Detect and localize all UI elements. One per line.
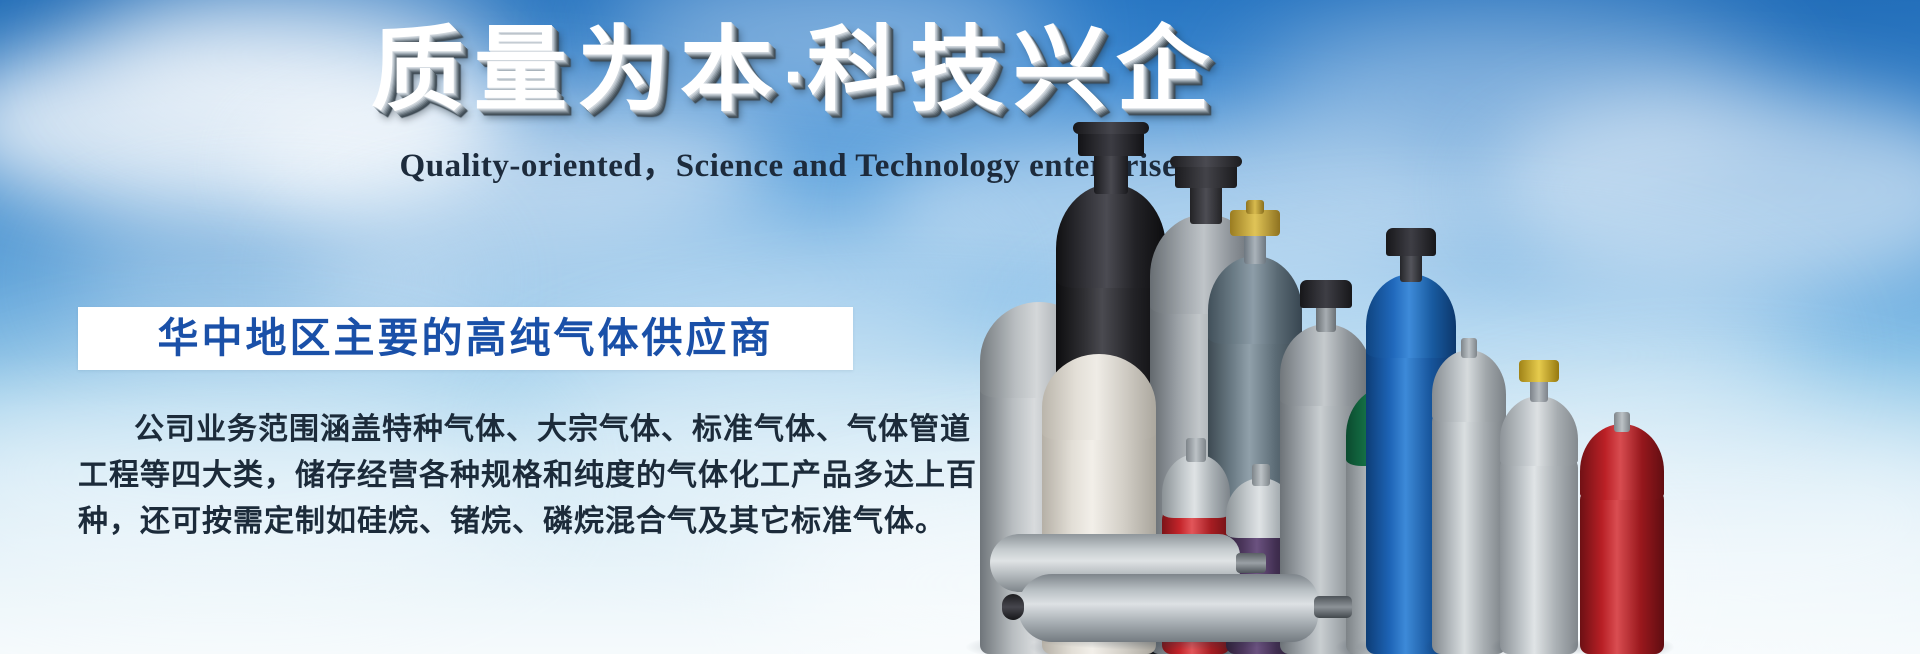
body-line: 种，还可按需定制如硅烷、锗烷、磷烷混合气及其它标准气体。	[78, 499, 868, 545]
highlight-box: 华中地区主要的高纯气体供应商	[78, 307, 853, 370]
hero-banner: 质量为本·科技兴企 Quality-oriented，Science and T…	[0, 0, 1920, 654]
headline-separator-dot: ·	[783, 37, 807, 117]
highlight-box-text: 华中地区主要的高纯气体供应商	[158, 318, 774, 359]
body-line: 公司业务范围涵盖特种气体、大宗气体、标准气体、气体管道	[78, 407, 868, 453]
banner-body-copy: 公司业务范围涵盖特种气体、大宗气体、标准气体、气体管道 工程等四大类，储存经营各…	[78, 407, 868, 545]
body-line: 工程等四大类，储存经营各种规格和纯度的气体化工产品多达上百	[78, 453, 868, 499]
cylinder-red-tall-right	[1580, 424, 1664, 654]
cylinder-silver-slim	[1432, 350, 1506, 654]
cylinder-aluminium-yellow	[1500, 396, 1578, 654]
cylinder-silver-lying	[1018, 574, 1318, 642]
gas-cylinders-photo	[980, 0, 1920, 654]
headline-part-1: 质量为本	[371, 18, 783, 122]
